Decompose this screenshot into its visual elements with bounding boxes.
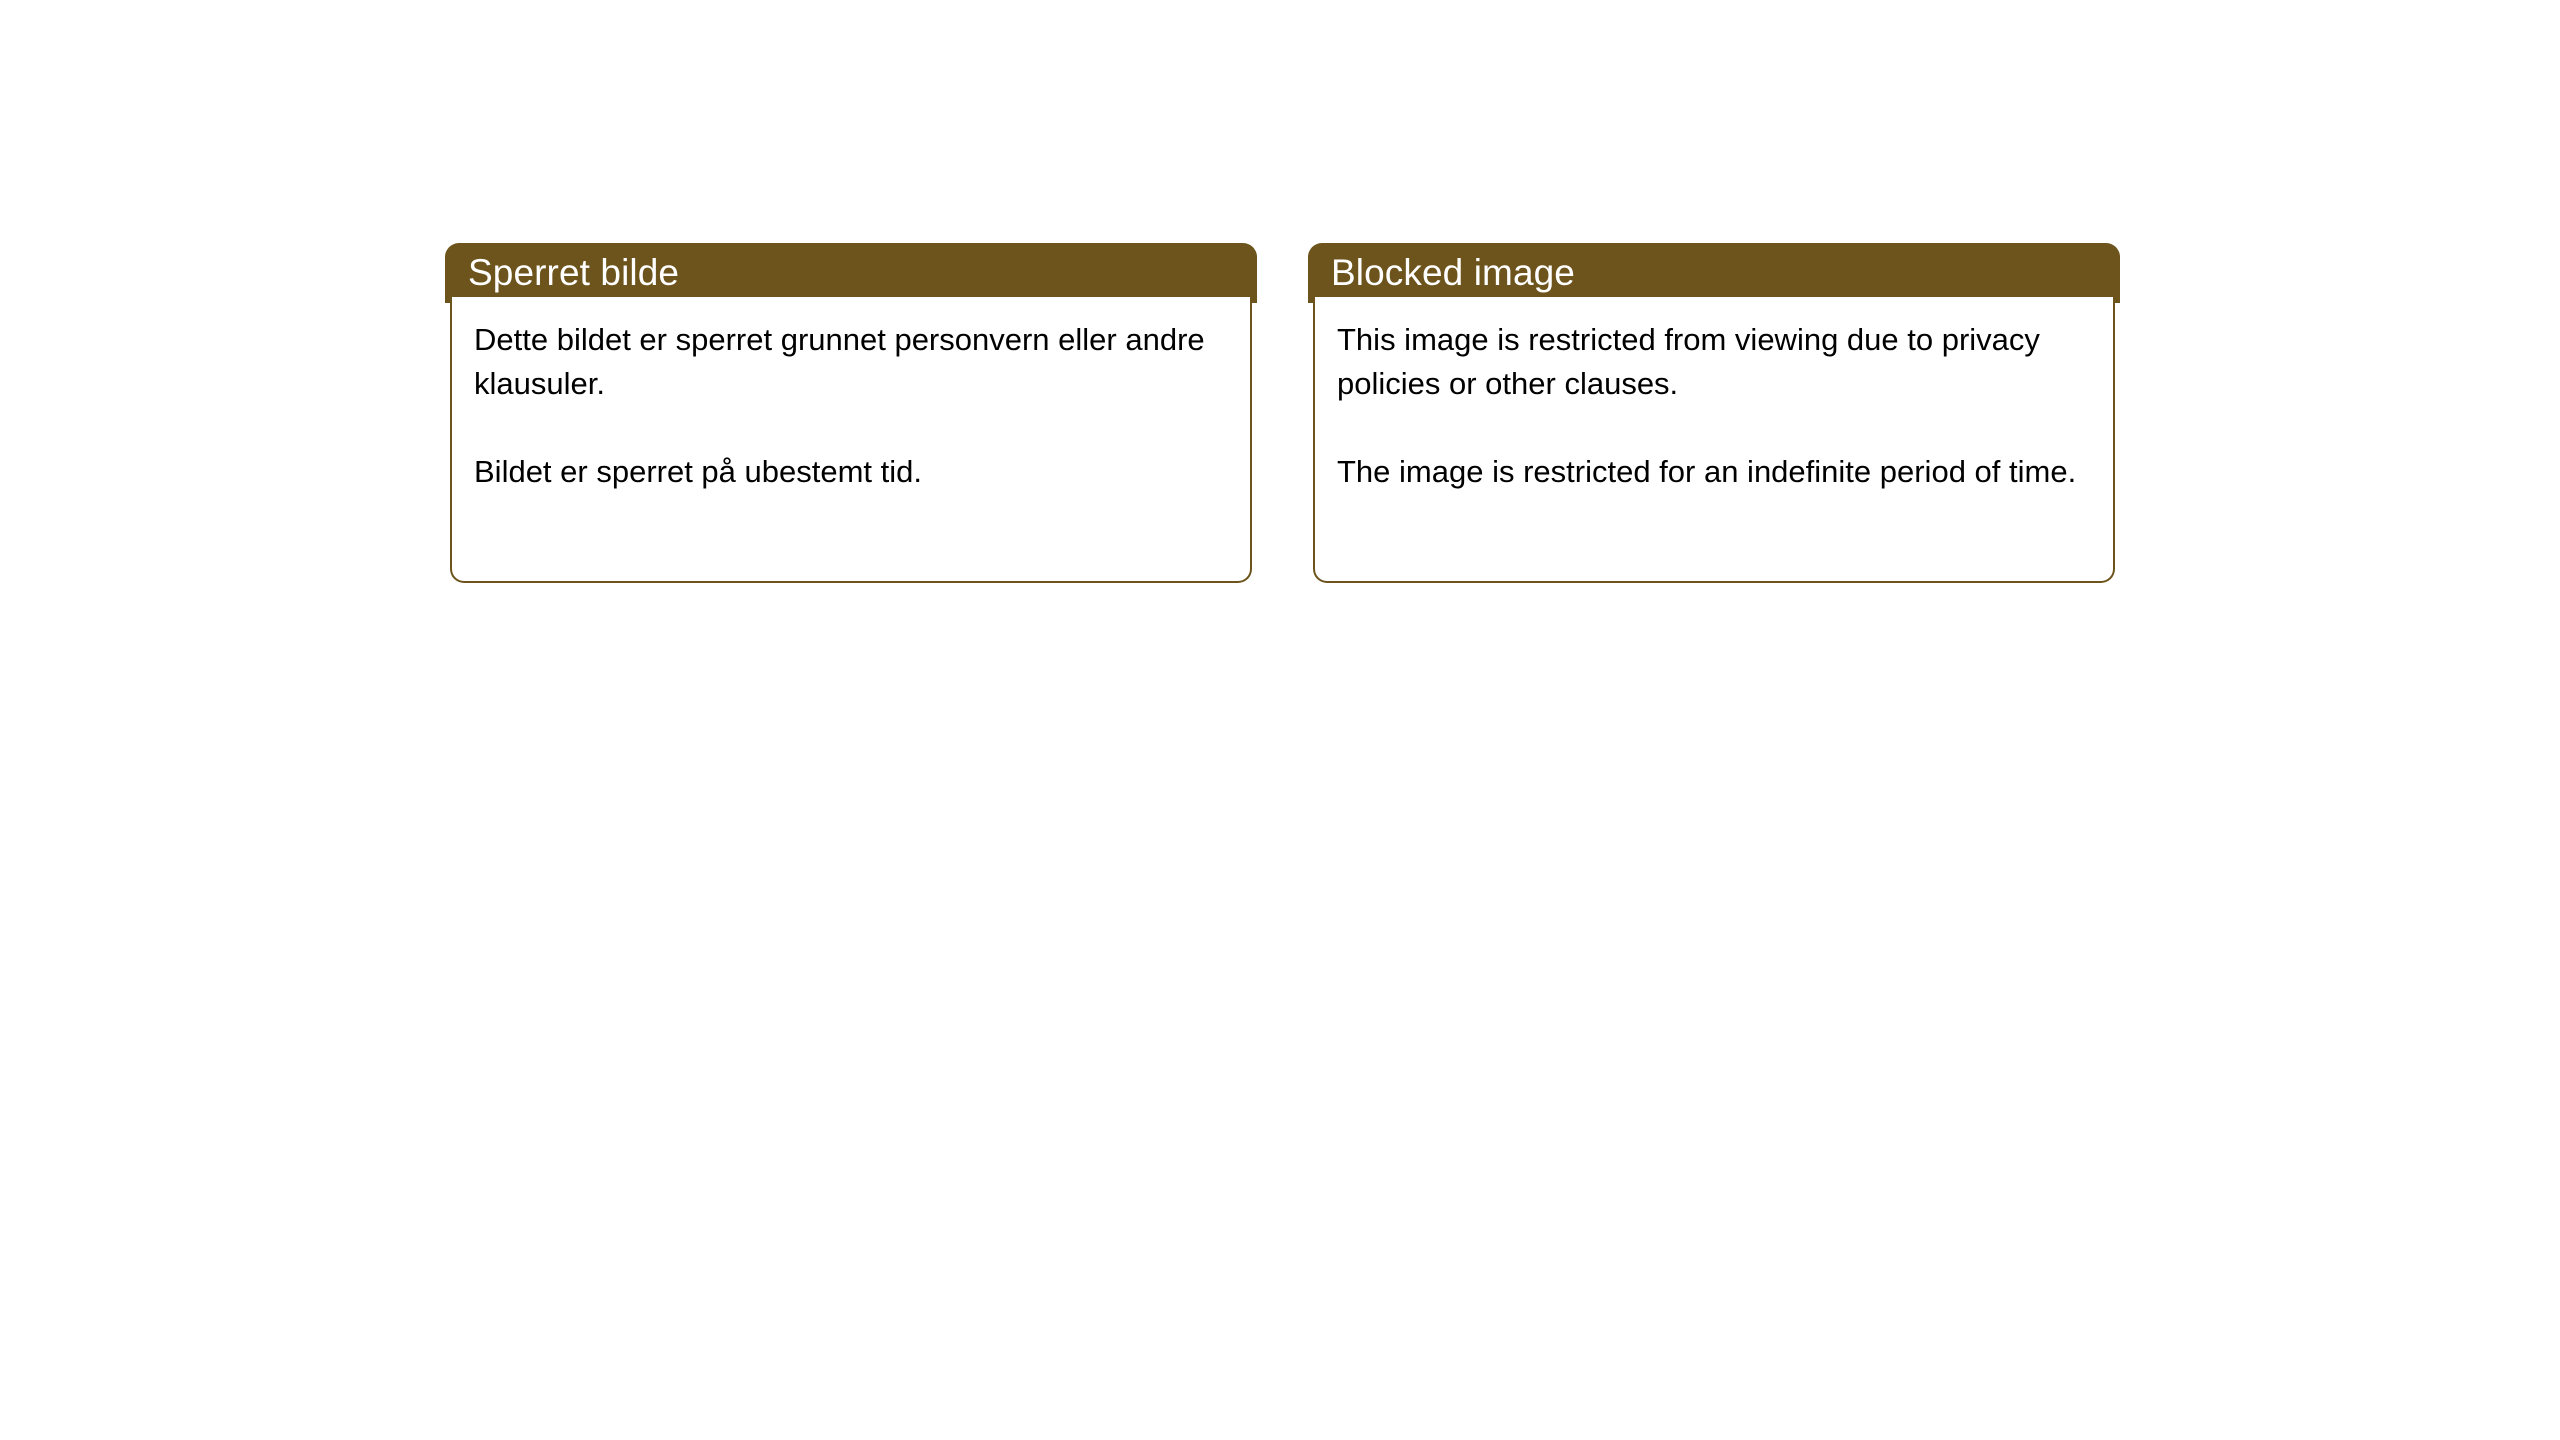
card-paragraph-secondary-norwegian: Bildet er sperret på ubestemt tid. bbox=[474, 450, 1234, 494]
card-body-english: This image is restricted from viewing du… bbox=[1313, 297, 2115, 583]
card-message-english: This image is restricted from viewing du… bbox=[1337, 318, 2097, 494]
card-paragraph-primary-english: This image is restricted from viewing du… bbox=[1337, 318, 2097, 406]
card-paragraph-secondary-english: The image is restricted for an indefinit… bbox=[1337, 450, 2097, 494]
card-body-norwegian: Dette bildet er sperret grunnet personve… bbox=[450, 297, 1252, 583]
card-paragraph-primary-norwegian: Dette bildet er sperret grunnet personve… bbox=[474, 318, 1234, 406]
card-message-norwegian: Dette bildet er sperret grunnet personve… bbox=[474, 318, 1234, 494]
card-title-norwegian: Sperret bilde bbox=[468, 251, 679, 295]
card-header-english: Blocked image bbox=[1308, 243, 2120, 303]
card-header-norwegian: Sperret bilde bbox=[445, 243, 1257, 303]
blocked-image-card-english: Blocked image This image is restricted f… bbox=[1308, 243, 2128, 583]
card-title-english: Blocked image bbox=[1331, 251, 1575, 295]
blocked-image-notice-stage: Sperret bilde Dette bildet er sperret gr… bbox=[0, 0, 2560, 1440]
blocked-image-card-norwegian: Sperret bilde Dette bildet er sperret gr… bbox=[445, 243, 1265, 583]
